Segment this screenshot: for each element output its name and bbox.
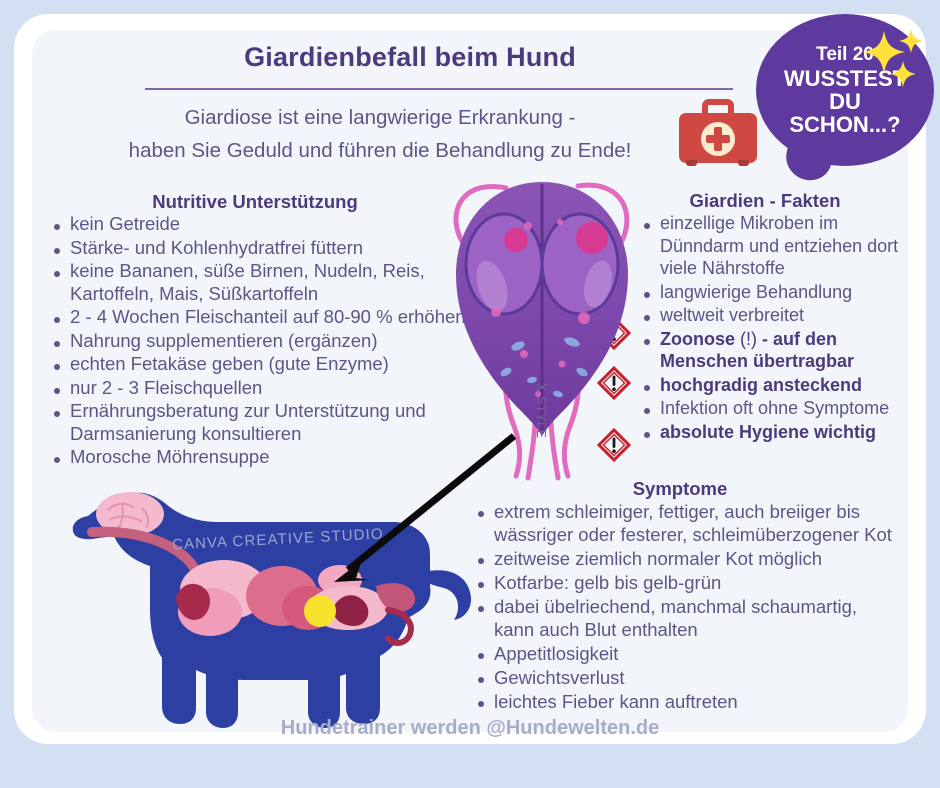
list-item: 2 - 4 Wochen Fleischanteil auf 80-90 % e… xyxy=(48,306,478,329)
list-item: Nahrung supplementieren (ergänzen) xyxy=(48,330,478,353)
list-item: Appetitlosigkeit xyxy=(472,642,902,665)
list-item: leichtes Fieber kann auftreten xyxy=(472,690,902,713)
sparkle-icon-small-1 xyxy=(898,28,924,54)
list-item: weltweit verbreitet xyxy=(638,304,900,327)
list-item: keine Bananen, süße Birnen, Nudeln, Reis… xyxy=(48,260,478,305)
list-item: Kotfarbe: gelb bis gelb-grün xyxy=(472,571,902,594)
list-item: nur 2 - 3 Fleischquellen xyxy=(48,377,478,400)
list-item: echten Fetakäse geben (gute Enzyme) xyxy=(48,353,478,376)
list-item: Infektion oft ohne Symptome xyxy=(638,397,900,420)
list-item: hochgradig ansteckend xyxy=(638,374,900,397)
list-item: langwierige Behandlung xyxy=(638,281,900,304)
list-item: zeitweise ziemlich normaler Kot möglich xyxy=(472,547,902,570)
list-item: kein Getreide xyxy=(48,213,478,236)
symptome-list: extrem schleimiger, fettiger, auch breii… xyxy=(472,500,902,714)
list-item: extrem schleimiger, fettiger, auch breii… xyxy=(472,500,902,546)
title-divider xyxy=(145,88,733,90)
infographic-canvas: Giardienbefall beim Hund Giardiose ist e… xyxy=(0,0,940,788)
badge-line-3: SCHON...? xyxy=(789,113,900,136)
badge-line-2: DU xyxy=(829,90,861,113)
list-item: absolute Hygiene wichtig xyxy=(638,421,900,444)
subtitle-line-1: Giardiose ist eine langwierige Erkrankun… xyxy=(40,101,720,134)
list-item: Stärke- und Kohlenhydratfrei füttern xyxy=(48,237,478,260)
sparkle-icon-small-2 xyxy=(889,60,917,88)
parasite-watermark: X.STYLE xyxy=(534,383,548,439)
section-heading-nutritive: Nutritive Unterstützung xyxy=(30,191,480,213)
list-item: Gewichtsverlust xyxy=(472,666,902,689)
section-heading-symptome: Symptome xyxy=(470,478,890,500)
list-item: einzellige Mikroben im Dünndarm und entz… xyxy=(638,212,900,280)
section-heading-fakten: Giardien - Fakten xyxy=(640,190,890,212)
list-item: Zoonose (!) - auf den Menschen übertragb… xyxy=(638,328,900,373)
page-title: Giardienbefall beim Hund xyxy=(60,42,760,73)
footer-credit: Hundetrainer werden @Hundewelten.de xyxy=(0,717,940,740)
list-item: dabei übelriechend, manchmal schaumartig… xyxy=(472,595,902,641)
fakten-list: einzellige Mikroben im Dünndarm und entz… xyxy=(638,212,900,444)
first-aid-kit-icon xyxy=(678,99,758,171)
